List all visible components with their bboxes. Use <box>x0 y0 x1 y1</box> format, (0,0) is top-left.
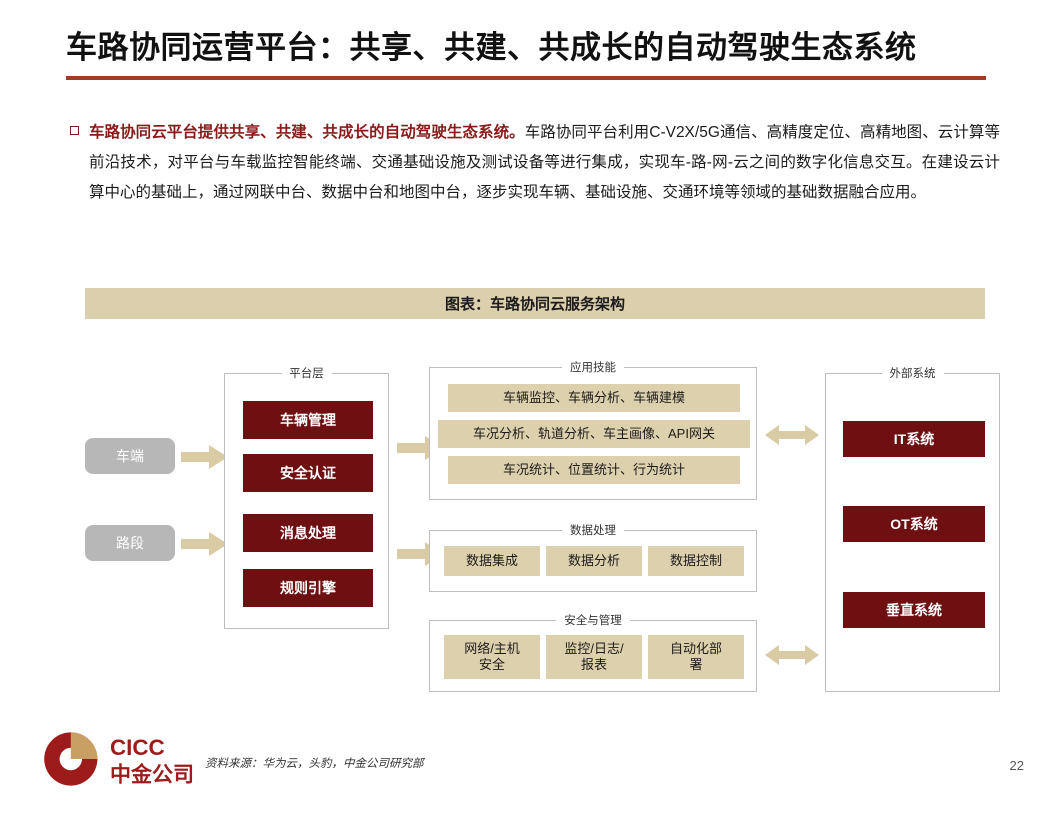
external-item-vertical-system[interactable]: 垂直系统 <box>843 592 985 628</box>
app-skill-row-1-label: 车况分析、轨道分析、车主画像、API网关 <box>473 426 715 442</box>
data-item-analysis[interactable]: 数据分析 <box>546 546 642 576</box>
group-platform-layer-legend: 平台层 <box>281 365 332 381</box>
app-skill-row-2-label: 车况统计、位置统计、行为统计 <box>503 462 685 478</box>
platform-item-security-auth[interactable]: 安全认证 <box>243 454 373 492</box>
source-note: 资料来源：华为云，头豹，中金公司研究部 <box>205 755 424 771</box>
slide-page: 车路协同运营平台：共享、共建、共成长的自动驾驶生态系统 车路协同云平台提供共享、… <box>0 0 1056 816</box>
data-item-1-label: 数据分析 <box>568 553 620 569</box>
cicc-logo-latin: CICC <box>110 735 165 760</box>
group-security-management: 安全与管理 网络/主机 安全 监控/日志/ 报表 自动化部 署 <box>429 620 757 692</box>
group-app-skills: 应用技能 车辆监控、车辆分析、车辆建模 车况分析、轨道分析、车主画像、API网关… <box>429 367 757 500</box>
platform-item-vehicle-management[interactable]: 车辆管理 <box>243 401 373 439</box>
security-item-monitor-log[interactable]: 监控/日志/ 报表 <box>546 635 642 679</box>
group-security-management-legend: 安全与管理 <box>556 612 630 628</box>
summary-lead-text: 车路协同云平台提供共享、共建、共成长的自动驾驶生态系统。 <box>89 124 525 141</box>
external-item-0-label: IT系统 <box>894 431 934 448</box>
summary-bullet-block: 车路协同云平台提供共享、共建、共成长的自动驾驶生态系统。车路协同平台利用C-V2… <box>70 118 1000 209</box>
external-item-ot-system[interactable]: OT系统 <box>843 506 985 542</box>
endpoint-vehicle[interactable]: 车端 <box>85 438 175 474</box>
cicc-logo: CICC 中金公司 <box>40 728 215 790</box>
security-item-2-line1: 自动化部 <box>670 641 722 657</box>
app-skill-row-monitoring[interactable]: 车辆监控、车辆分析、车辆建模 <box>448 384 740 412</box>
page-title: 车路协同运营平台：共享、共建、共成长的自动驾驶生态系统 <box>66 30 986 66</box>
platform-item-3-label: 规则引擎 <box>280 580 336 597</box>
arrow-vehicle-to-platform <box>181 444 229 470</box>
app-skill-row-0-label: 车辆监控、车辆分析、车辆建模 <box>503 390 685 406</box>
security-item-network-host[interactable]: 网络/主机 安全 <box>444 635 540 679</box>
endpoint-vehicle-label: 车端 <box>116 446 144 466</box>
slide-header: 车路协同运营平台：共享、共建、共成长的自动驾驶生态系统 <box>66 30 986 80</box>
data-item-2-label: 数据控制 <box>670 553 722 569</box>
group-app-skills-legend: 应用技能 <box>562 359 624 375</box>
platform-item-2-label: 消息处理 <box>280 525 336 542</box>
architecture-diagram: 车端 路段 平台层 车辆管理 安全认证 消息处理 规则引擎 <box>85 345 1005 705</box>
security-item-0-line2: 安全 <box>479 657 505 673</box>
data-item-integration[interactable]: 数据集成 <box>444 546 540 576</box>
cicc-logo-cn: 中金公司 <box>110 762 194 786</box>
page-number: 22 <box>1010 758 1024 773</box>
chart-caption-text: 图表：车路协同云服务架构 <box>445 293 625 314</box>
security-item-auto-deploy[interactable]: 自动化部 署 <box>648 635 744 679</box>
app-skill-row-analysis[interactable]: 车况分析、轨道分析、车主画像、API网关 <box>438 420 750 448</box>
external-item-it-system[interactable]: IT系统 <box>843 421 985 457</box>
group-data-processing: 数据处理 数据集成 数据分析 数据控制 <box>429 530 757 592</box>
title-underline-rule <box>66 76 986 80</box>
app-skill-row-statistics[interactable]: 车况统计、位置统计、行为统计 <box>448 456 740 484</box>
external-item-2-label: 垂直系统 <box>886 602 942 619</box>
security-item-1-line1: 监控/日志/ <box>564 641 623 657</box>
platform-item-1-label: 安全认证 <box>280 465 336 482</box>
square-bullet-icon <box>70 126 79 135</box>
chart-caption-bar: 图表：车路协同云服务架构 <box>85 288 985 319</box>
external-item-1-label: OT系统 <box>890 516 937 533</box>
arrow-bidirectional-security-external <box>765 643 819 667</box>
group-external-systems: 外部系统 IT系统 OT系统 垂直系统 <box>825 373 1000 692</box>
data-item-0-label: 数据集成 <box>466 553 518 569</box>
security-item-1-line2: 报表 <box>581 657 607 673</box>
platform-item-rule-engine[interactable]: 规则引擎 <box>243 569 373 607</box>
arrow-road-to-platform <box>181 531 229 557</box>
security-item-2-line2: 署 <box>689 657 702 673</box>
endpoint-road-label: 路段 <box>116 533 144 553</box>
group-external-systems-legend: 外部系统 <box>882 365 944 381</box>
platform-item-0-label: 车辆管理 <box>280 412 336 429</box>
group-data-processing-legend: 数据处理 <box>562 522 624 538</box>
security-item-0-line1: 网络/主机 <box>464 641 520 657</box>
summary-paragraph: 车路协同云平台提供共享、共建、共成长的自动驾驶生态系统。车路协同平台利用C-V2… <box>89 118 1000 209</box>
data-item-control[interactable]: 数据控制 <box>648 546 744 576</box>
platform-item-message-processing[interactable]: 消息处理 <box>243 514 373 552</box>
endpoint-road[interactable]: 路段 <box>85 525 175 561</box>
group-platform-layer: 平台层 车辆管理 安全认证 消息处理 规则引擎 <box>224 373 389 629</box>
arrow-bidirectional-app-external <box>765 423 819 447</box>
